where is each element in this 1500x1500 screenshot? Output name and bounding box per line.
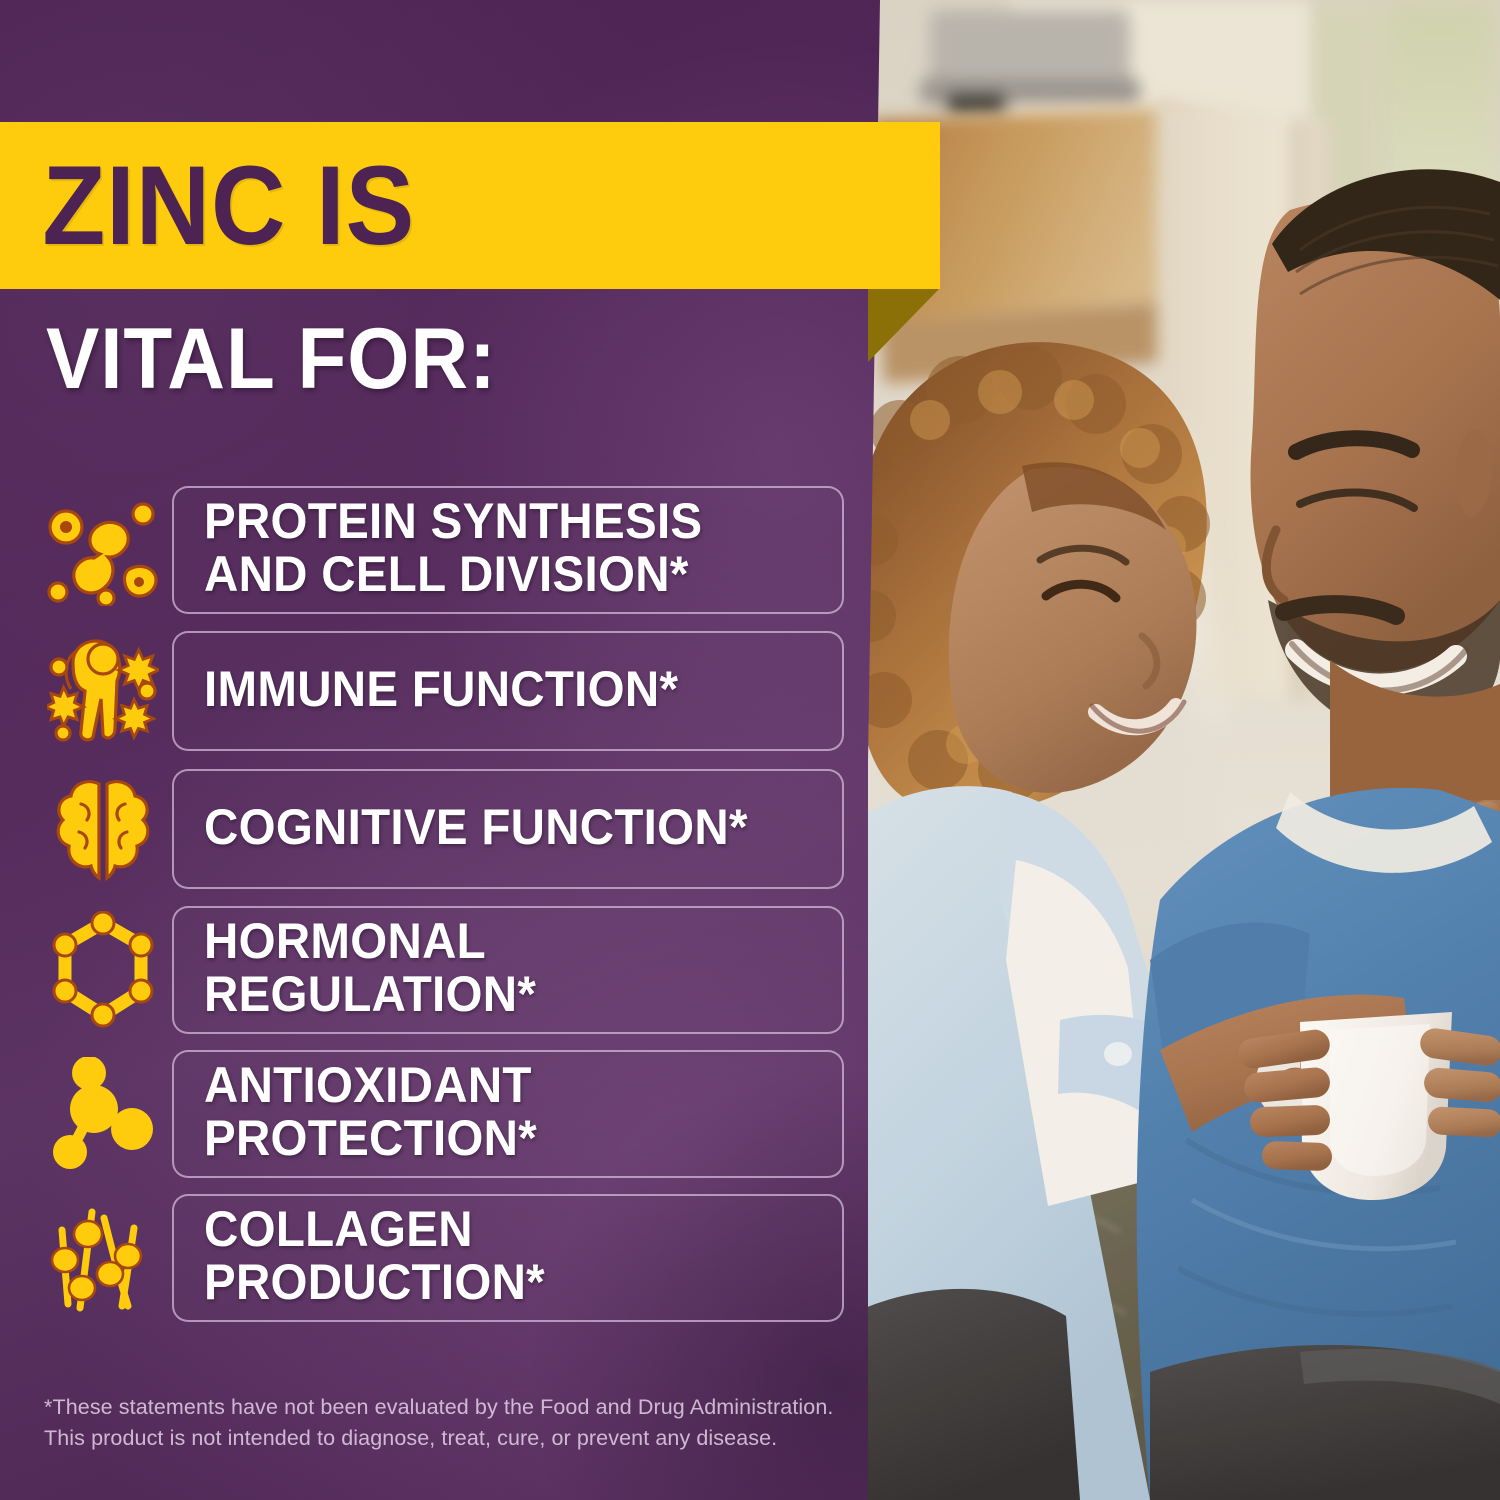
benefit-row: PROTEIN SYNTHESIS AND CELL DIVISION* (34, 486, 844, 614)
antioxidant-molecule-icon (34, 1053, 172, 1175)
benefit-label: COLLAGEN PRODUCTION* (204, 1203, 545, 1309)
page-subtitle: VITAL FOR: (46, 316, 497, 402)
benefit-label: COGNITIVE FUNCTION* (204, 801, 748, 854)
benefit-pill[interactable]: COLLAGEN PRODUCTION* (172, 1194, 844, 1322)
benefit-label: IMMUNE FUNCTION* (204, 663, 678, 716)
benefit-row: COLLAGEN PRODUCTION* (34, 1194, 844, 1322)
benefit-row: HORMONAL REGULATION* (34, 906, 844, 1034)
benefit-row: ANTIOXIDANT PROTECTION* (34, 1050, 844, 1178)
benefit-pill[interactable]: ANTIOXIDANT PROTECTION* (172, 1050, 844, 1178)
benefits-list: PROTEIN SYNTHESIS AND CELL DIVISION* (34, 486, 844, 1338)
cell-division-icon (34, 489, 172, 611)
hexagon-molecule-icon (34, 909, 172, 1031)
benefit-row: IMMUNE FUNCTION* (34, 630, 844, 752)
benefit-pill[interactable]: IMMUNE FUNCTION* (172, 631, 844, 751)
benefit-pill[interactable]: HORMONAL REGULATION* (172, 906, 844, 1034)
benefit-row: COGNITIVE FUNCTION* (34, 768, 844, 890)
brain-icon (34, 768, 172, 890)
benefit-pill[interactable]: COGNITIVE FUNCTION* (172, 769, 844, 889)
benefit-label: PROTEIN SYNTHESIS AND CELL DIVISION* (204, 495, 702, 601)
benefit-label: HORMONAL REGULATION* (204, 915, 536, 1021)
fda-disclaimer: *These statements have not been evaluate… (44, 1392, 844, 1453)
benefit-pill[interactable]: PROTEIN SYNTHESIS AND CELL DIVISION* (172, 486, 844, 614)
collagen-fiber-icon (34, 1197, 172, 1319)
benefit-label: ANTIOXIDANT PROTECTION* (204, 1059, 537, 1165)
page-title: ZINC IS (0, 150, 415, 262)
marketing-infographic: ZINC IS VITAL FOR: (0, 0, 1500, 1500)
immune-shield-icon (34, 630, 172, 752)
title-ribbon: ZINC IS (0, 122, 940, 289)
